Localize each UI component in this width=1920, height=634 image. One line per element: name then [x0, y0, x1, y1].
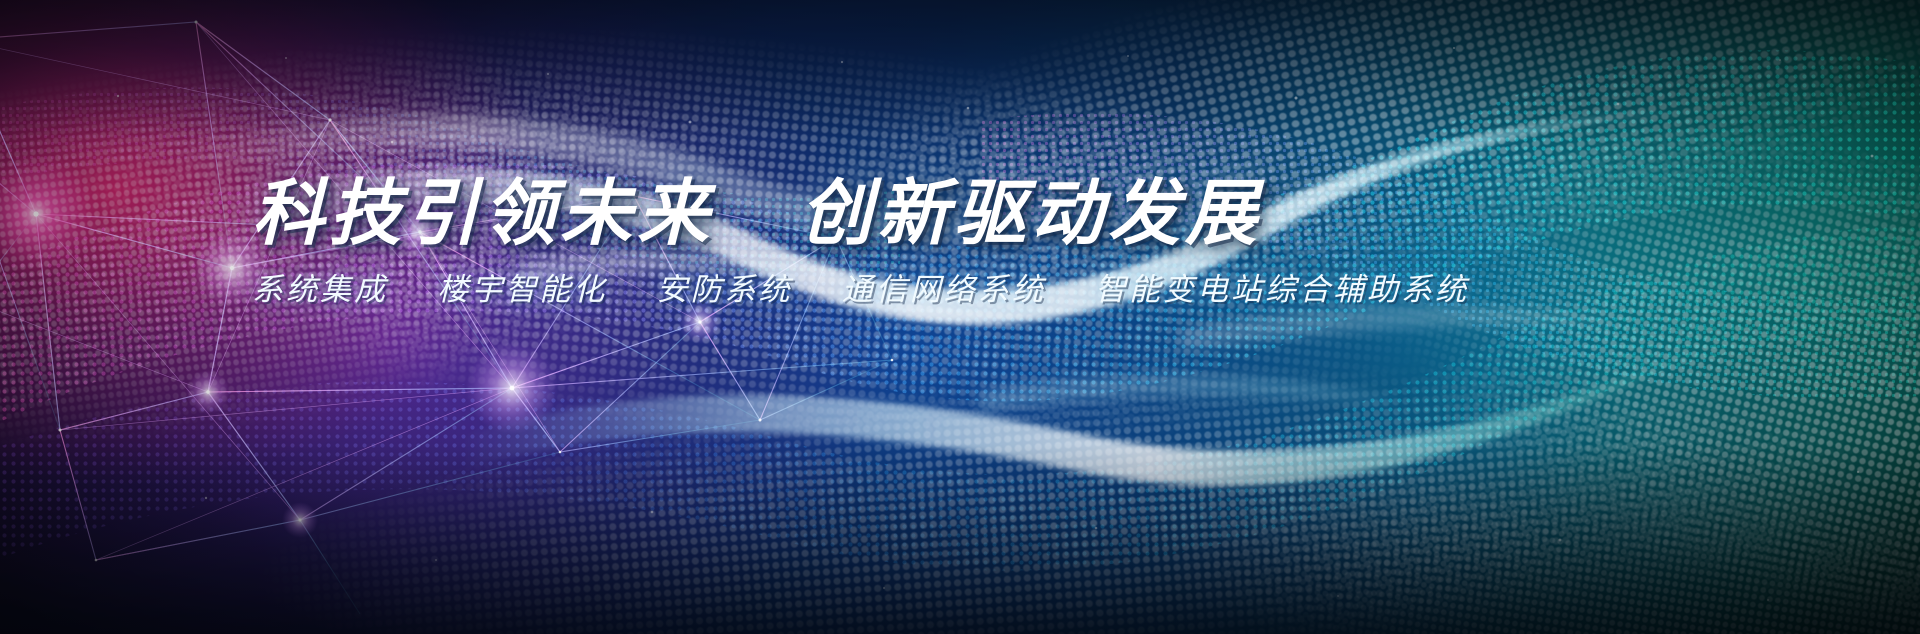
headline-segment-b: 创新驱动发展 [800, 178, 1262, 250]
subtitle-item-1: 系统集成 [252, 272, 388, 307]
headline-segment-a: 科技引领未来 [252, 178, 714, 250]
banner-text-block: 科技引领未来 创新驱动发展 系统集成 楼宇智能化 安防系统 通信网络系统 智能变… [252, 178, 1572, 305]
subtitle-item-5: 智能变电站综合辅助系统 [1095, 272, 1469, 307]
subtitle-item-4: 通信网络系统 [842, 272, 1046, 307]
subtitle-item-2: 楼宇智能化 [437, 272, 607, 307]
banner-subtitle: 系统集成 楼宇智能化 安防系统 通信网络系统 智能变电站综合辅助系统 [252, 274, 1572, 305]
background-vignette [0, 0, 1920, 634]
banner-headline: 科技引领未来 创新驱动发展 [252, 178, 1572, 250]
tech-hero-banner: 科技引领未来 创新驱动发展 系统集成 楼宇智能化 安防系统 通信网络系统 智能变… [0, 0, 1920, 634]
subtitle-item-3: 安防系统 [657, 272, 793, 307]
